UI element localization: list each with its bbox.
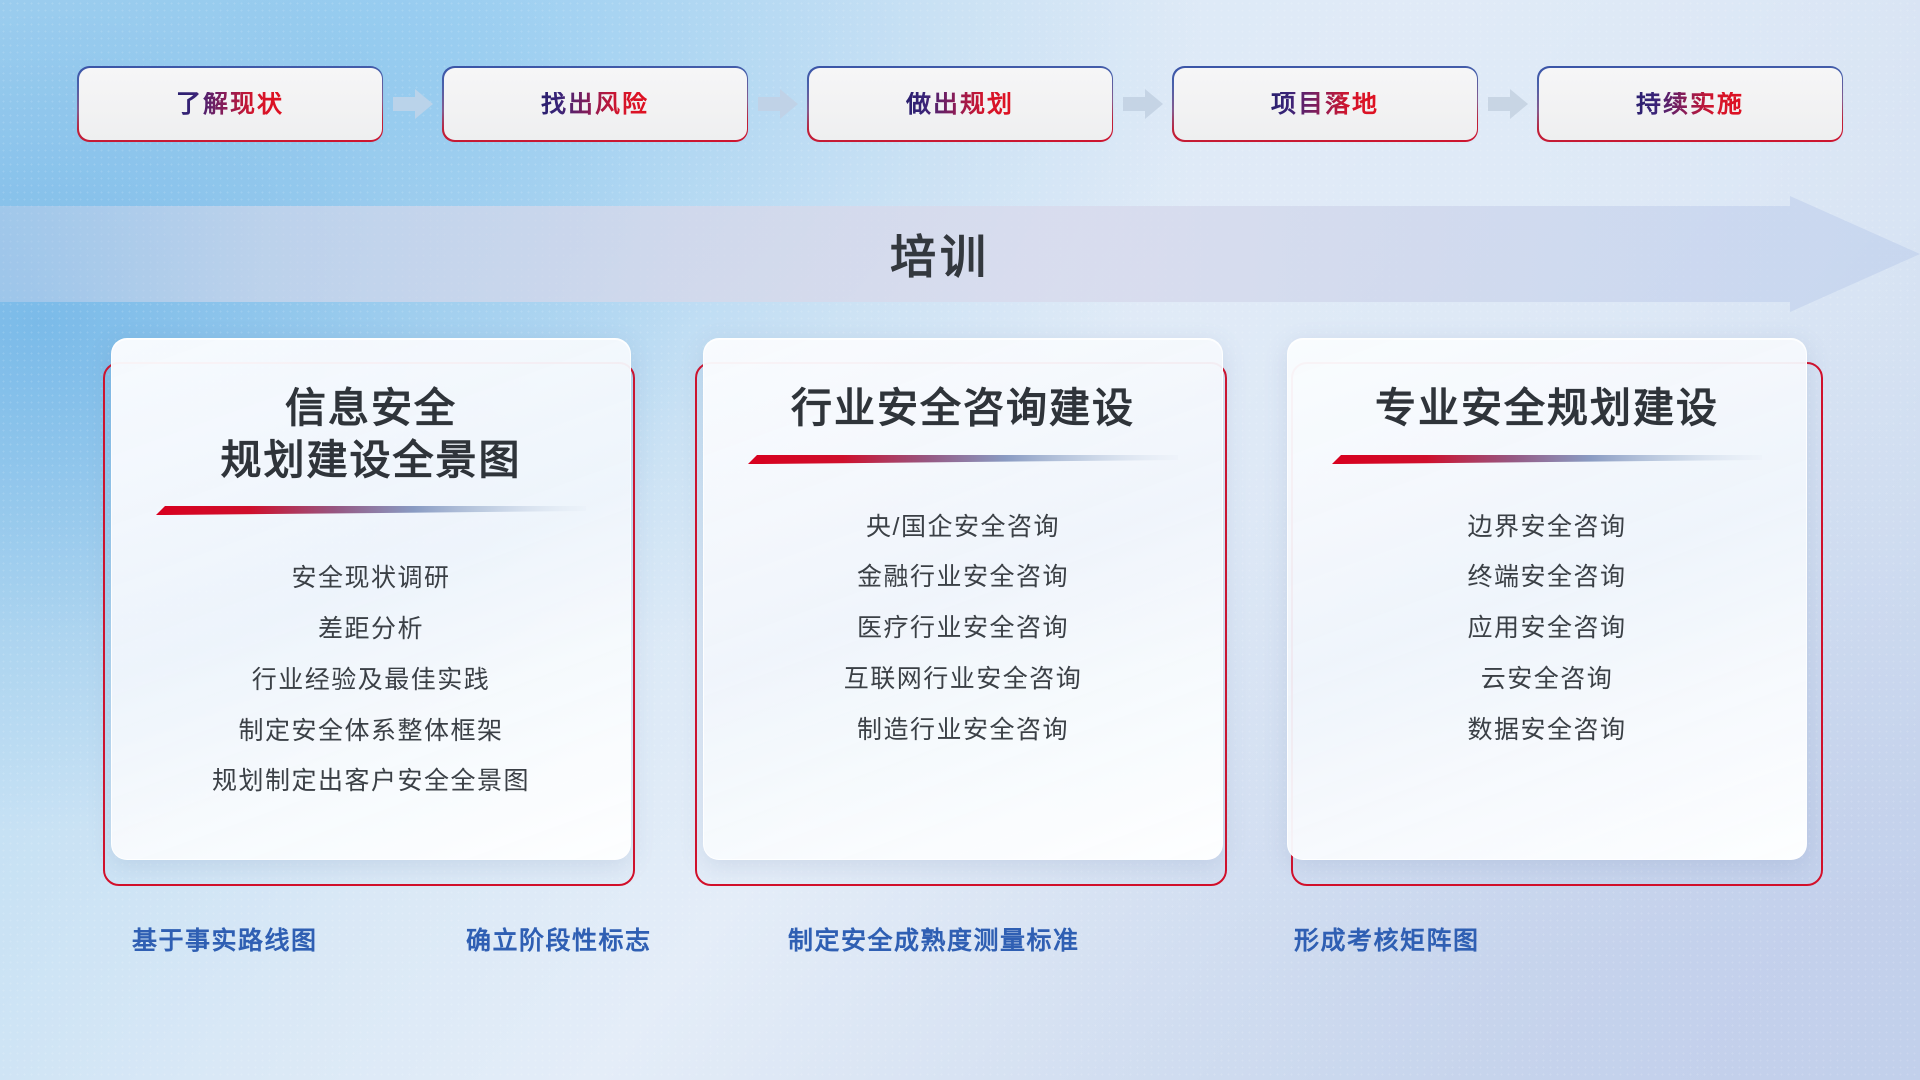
card-list-item: 安全现状调研 [291,559,450,598]
card-1[interactable]: 信息安全 规划建设全景图 [103,338,633,883]
process-step-label: 了解现状 [176,92,284,117]
card-list-item: 行业经验及最佳实践 [252,661,491,700]
card-item-list: 安全现状调研 差距分析 行业经验及最佳实践 制定安全体系整体框架 规划制定出客户… [112,559,630,801]
process-arrow-icon-2 [747,68,809,140]
card-list-item: 规划制定出客户安全全景图 [212,762,530,801]
outcome-label-3: 制定安全成熟度测量标准 [788,912,1080,966]
card-list-item: 医疗行业安全咨询 [857,609,1069,648]
process-step-5[interactable]: 持续实施 [1539,68,1842,140]
card-3[interactable]: 专业安全规划建设 [1287,338,1817,883]
card-list-item: 制造行业安全咨询 [857,711,1069,750]
card-face: 行业安全咨询建设 [703,338,1223,860]
outcome-label-row: 基于事实路线图 确立阶段性标志 制定安全成熟度测量标准 形成考核矩阵图 [0,912,1920,966]
card-item-list: 央/国企安全咨询 金融行业安全咨询 医疗行业安全咨询 互联网行业安全咨询 制造行… [704,508,1222,750]
card-list-item: 边界安全咨询 [1467,508,1626,547]
card-divider-icon [748,453,1178,466]
card-title: 信息安全 规划建设全景图 [221,383,522,486]
process-step-label: 做出规划 [906,92,1014,117]
card-list-item: 差距分析 [318,610,424,649]
process-step-3[interactable]: 做出规划 [809,68,1112,140]
card-list-item: 互联网行业安全咨询 [844,660,1083,699]
process-step-row: 了解现状 找出风险 做出规划 项目落地 [0,62,1920,146]
card-list-item: 应用安全咨询 [1467,609,1626,648]
card-title: 专业安全规划建设 [1375,383,1719,435]
card-list-item: 央/国企安全咨询 [866,508,1060,547]
outcome-label-1: 基于事实路线图 [132,912,318,966]
card-divider-icon [156,504,586,517]
card-list-item: 终端安全咨询 [1467,558,1626,597]
card-title: 行业安全咨询建设 [791,383,1135,435]
card-group: 信息安全 规划建设全景图 [0,338,1920,883]
process-step-label: 项目落地 [1271,92,1379,117]
card-list-item: 数据安全咨询 [1467,711,1626,750]
card-list-item: 云安全咨询 [1481,660,1614,699]
process-arrow-icon-1 [382,68,444,140]
card-2[interactable]: 行业安全咨询建设 [695,338,1225,883]
card-face: 专业安全规划建设 [1287,338,1807,860]
process-step-4[interactable]: 项目落地 [1174,68,1477,140]
process-step-label: 找出风险 [541,92,649,117]
training-banner: 培训 [0,196,1920,312]
outcome-label-4: 形成考核矩阵图 [1294,912,1480,966]
process-arrow-icon-4 [1477,68,1539,140]
process-step-1[interactable]: 了解现状 [79,68,382,140]
slide-canvas: 了解现状 找出风险 做出规划 项目落地 [0,0,1920,1080]
card-divider-icon [1332,453,1762,466]
card-face: 信息安全 规划建设全景图 [111,338,631,860]
outcome-label-2: 确立阶段性标志 [466,912,652,966]
process-step-label: 持续实施 [1636,92,1744,117]
card-item-list: 边界安全咨询 终端安全咨询 应用安全咨询 云安全咨询 数据安全咨询 [1288,508,1806,750]
card-list-item: 金融行业安全咨询 [857,558,1069,597]
process-arrow-icon-3 [1112,68,1174,140]
process-step-2[interactable]: 找出风险 [444,68,747,140]
card-list-item: 制定安全体系整体框架 [238,712,503,751]
banner-title: 培训 [0,196,1900,312]
